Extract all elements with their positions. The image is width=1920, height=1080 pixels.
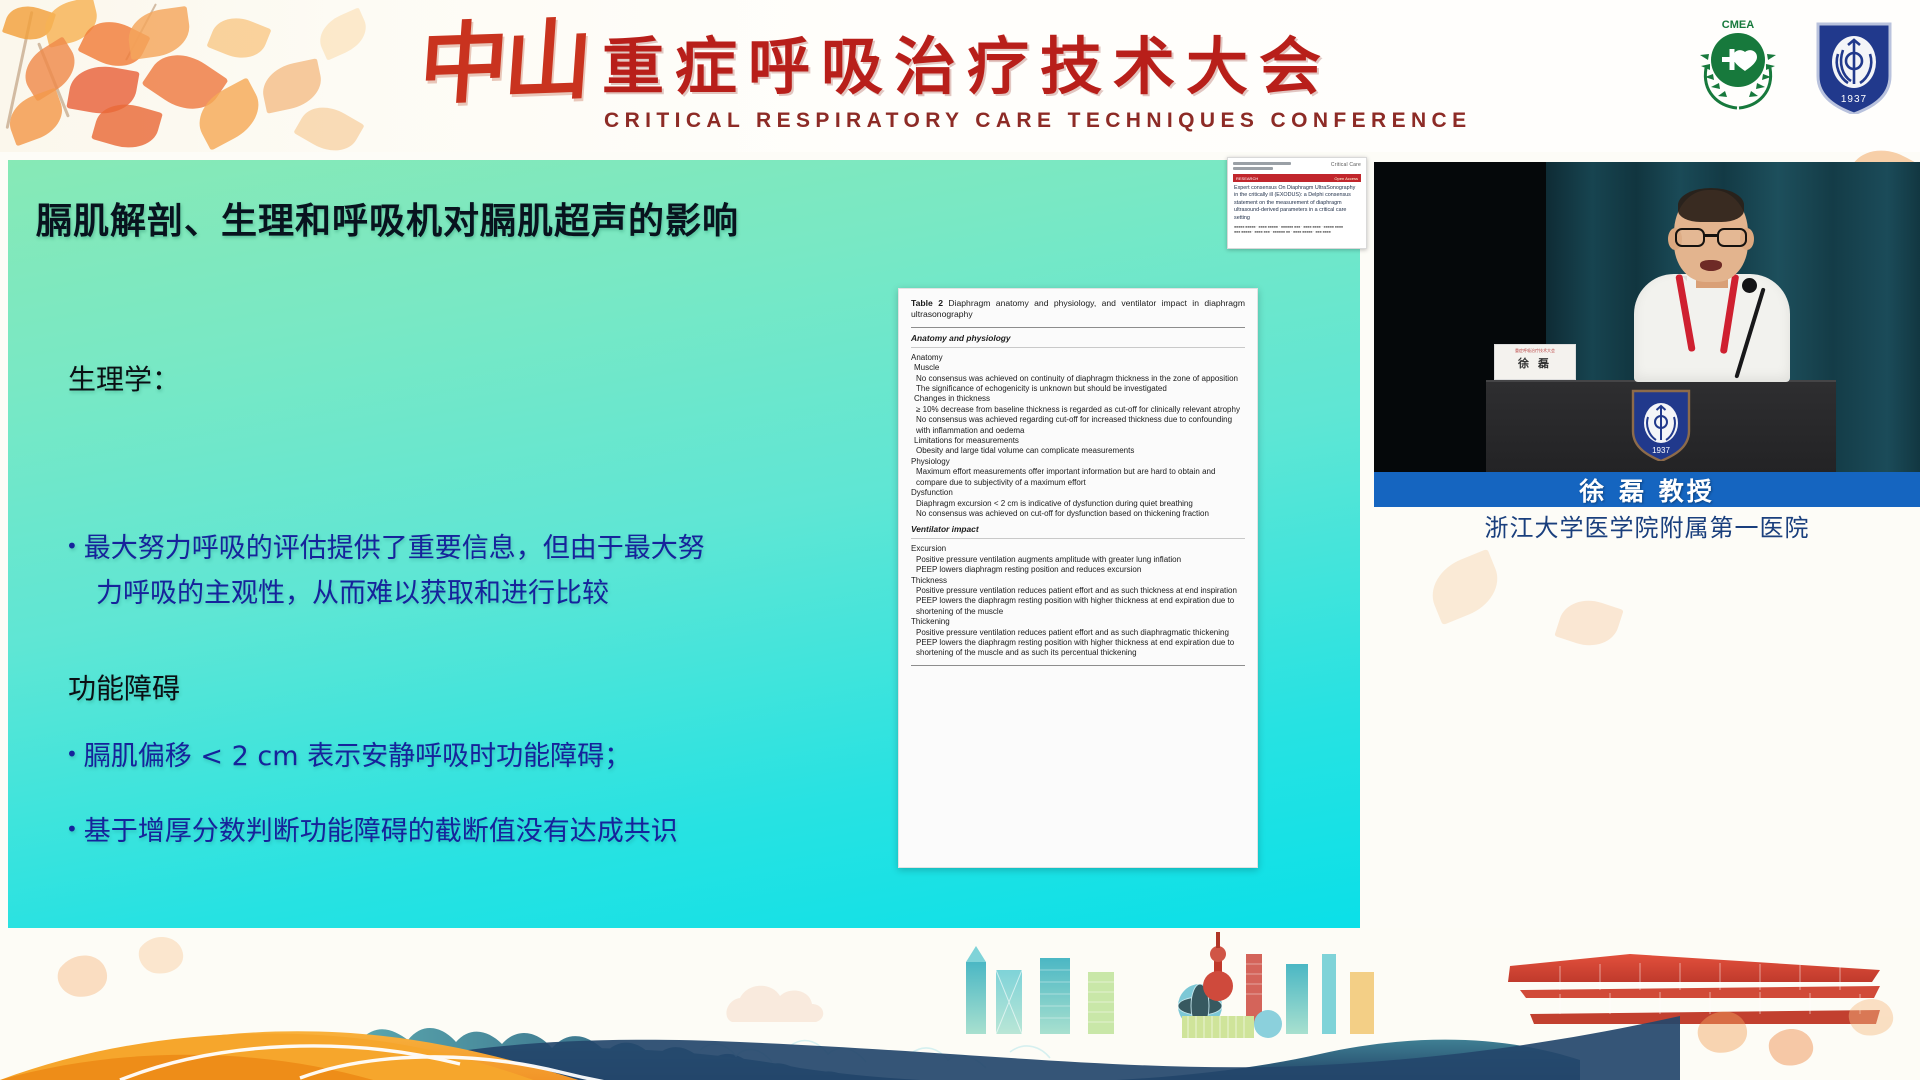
- slide-bullet-1: •最大努力呼吸的评估提供了重要信息，但由于最大努: [66, 522, 705, 573]
- speaker-name-banner: 徐 磊 教授: [1374, 472, 1920, 507]
- speaker-hair: [1678, 188, 1744, 222]
- slide-section-dysfunction: 功能障碍: [68, 667, 180, 707]
- speaker-person: [1674, 190, 1844, 390]
- shield-year-text: 1937: [1841, 94, 1867, 105]
- lectern-shield-emblem: 1937: [1629, 385, 1693, 466]
- slide-section-physiology: 生理学：: [68, 358, 180, 398]
- glasses-lens-right: [1717, 228, 1747, 247]
- table-row: Diaphragm excursion < 2 cm is indicative…: [911, 499, 1245, 509]
- speaker-affiliation: 浙江大学医学院附属第一医院: [1374, 508, 1920, 542]
- hospital-shield-logo: 1937: [1812, 14, 1896, 114]
- table-rule-top: [911, 327, 1245, 328]
- table-caption-label: Table 2: [911, 298, 943, 308]
- slide-bullet-2: •膈肌偏移 < 2 cm 表示安静呼吸时功能障碍；: [66, 730, 631, 781]
- brand-mark-zhongshan: 中山: [416, 11, 591, 113]
- organizer-logos: CMEA 1937: [1690, 14, 1896, 114]
- table-row: Thickness: [911, 576, 1245, 586]
- table-row: No consensus was achieved on continuity …: [911, 374, 1245, 384]
- slide-bullet-1-text: 最大努力呼吸的评估提供了重要信息，但由于最大努: [84, 533, 705, 564]
- table-row: Dysfunction: [911, 488, 1245, 498]
- cmea-logo-text: CMEA: [1722, 19, 1754, 31]
- table-rule-mid-1: [911, 347, 1245, 348]
- skyline-illustration: [0, 928, 1920, 1080]
- thumbnail-badge-left: RESEARCH: [1236, 176, 1258, 181]
- bullet-glyph-3: •: [66, 817, 78, 841]
- speaker-head: [1674, 190, 1748, 282]
- speaker-shirt: [1634, 274, 1790, 382]
- speaker-video-feed[interactable]: 1937 重症呼吸治疗技术大会 徐 磊: [1374, 162, 1920, 472]
- table-row: Positive pressure ventilation reduces pa…: [911, 586, 1245, 596]
- table-section-anatomy-physiology: Anatomy and physiology: [911, 333, 1245, 343]
- conference-title-block: 中山 重症呼吸治疗技术大会 CRITICAL RESPIRATORY CARE …: [400, 6, 1530, 146]
- table-ventilator-rows: ExcursionPositive pressure ventilation a…: [911, 544, 1245, 658]
- table-row: PEEP lowers the diaphragm resting positi…: [911, 596, 1245, 617]
- thumbnail-article-title: Expert consensus On Diaphragm UltraSonog…: [1228, 184, 1366, 222]
- thumbnail-header-row: Critical Care: [1228, 158, 1366, 172]
- desk-nameplate-conference: 重症呼吸治疗技术大会: [1495, 348, 1575, 354]
- table-2-figure: Table 2 Diaphragm anatomy and physiology…: [898, 288, 1258, 868]
- table-row: Thickening: [911, 617, 1245, 627]
- lectern: 1937: [1486, 380, 1836, 472]
- table-caption: Table 2 Diaphragm anatomy and physiology…: [911, 298, 1245, 321]
- glasses-bridge: [1703, 234, 1719, 237]
- conference-title-en: CRITICAL RESPIRATORY CARE TECHNIQUES CON…: [604, 109, 1472, 133]
- maple-leaf-decoration-left: [0, 0, 380, 152]
- slide-bullet-2-text: 膈肌偏移 < 2 cm 表示安静呼吸时功能障碍；: [84, 741, 631, 772]
- table-row: Positive pressure ventilation augments a…: [911, 555, 1245, 565]
- microphone-icon: [1742, 278, 1757, 293]
- table-anatomy-rows: AnatomyMuscleNo consensus was achieved o…: [911, 353, 1245, 520]
- table-row: Anatomy: [911, 353, 1245, 363]
- slide-title: 膈肌解剖、生理和呼吸机对膈肌超声的影响: [36, 192, 739, 244]
- thumbnail-journal-name: Critical Care: [1331, 162, 1361, 170]
- slide-bullet-3: •基于增厚分数判断功能障碍的截断值没有达成共识: [66, 805, 678, 856]
- table-row: Positive pressure ventilation reduces pa…: [911, 628, 1245, 638]
- table-row: Limitations for measurements: [911, 436, 1245, 446]
- table-section-ventilator-impact: Ventilator impact: [911, 524, 1245, 534]
- slide-bullet-3-text: 基于增厚分数判断功能障碍的截断值没有达成共识: [84, 816, 678, 847]
- speaker-glasses: [1675, 228, 1747, 248]
- maple-leaf-decoration-mid-right-2: [1554, 592, 1623, 654]
- table-row: Excursion: [911, 544, 1245, 554]
- conference-header-banner: 中山 重症呼吸治疗技术大会 CRITICAL RESPIRATORY CARE …: [0, 0, 1920, 152]
- speaker-mouth: [1700, 260, 1722, 271]
- table-rule-mid-2: [911, 538, 1245, 539]
- slide-bullet-1-continuation: 力呼吸的主观性，从而难以获取和进行比较: [96, 571, 609, 610]
- table-row: No consensus was achieved on cut-off for…: [911, 509, 1245, 519]
- cmea-logo: CMEA: [1690, 16, 1786, 112]
- desk-nameplate: 重症呼吸治疗技术大会 徐 磊: [1494, 344, 1576, 380]
- journal-article-thumbnail: Critical Care RESEARCH Open Access Exper…: [1227, 157, 1367, 249]
- maple-leaf-decoration-bottom-right: [1720, 690, 1800, 750]
- thumbnail-access-bar: RESEARCH Open Access: [1233, 174, 1361, 182]
- table-caption-text: Diaphragm anatomy and physiology, and ve…: [911, 298, 1245, 319]
- footer-skyline-decoration: [0, 928, 1920, 1080]
- table-row: ≥ 10% decrease from baseline thickness i…: [911, 405, 1245, 415]
- table-row: PEEP lowers diaphragm resting position a…: [911, 565, 1245, 575]
- desk-nameplate-name: 徐 磊: [1495, 355, 1575, 371]
- table-row: Maximum effort measurements offer import…: [911, 467, 1245, 488]
- screen: 中山 重症呼吸治疗技术大会 CRITICAL RESPIRATORY CARE …: [0, 0, 1920, 1080]
- table-row: Physiology: [911, 457, 1245, 467]
- glasses-lens-left: [1675, 228, 1705, 247]
- conference-title-cn: 重症呼吸治疗技术大会: [602, 32, 1332, 102]
- table-row: No consensus was achieved regarding cut-…: [911, 415, 1245, 436]
- thumbnail-badge-right: Open Access: [1334, 176, 1358, 181]
- table-row: Obesity and large tidal volume can compl…: [911, 446, 1245, 456]
- lectern-year-text: 1937: [1652, 446, 1670, 455]
- bullet-glyph-2: •: [66, 742, 78, 766]
- maple-leaf-decoration-mid-right: [1422, 549, 1507, 625]
- thumbnail-author-list: ■■■■■ ■■■■■ · ■■■■ ■■■■■ · ■■■■■■ ■■■ · …: [1228, 222, 1366, 235]
- table-rule-bottom: [911, 665, 1245, 666]
- table-row: Changes in thickness: [911, 394, 1245, 404]
- bullet-glyph: •: [66, 534, 78, 558]
- table-row: PEEP lowers the diaphragm resting positi…: [911, 638, 1245, 659]
- table-row: The significance of echogenicity is unkn…: [911, 384, 1245, 394]
- table-row: Muscle: [911, 363, 1245, 373]
